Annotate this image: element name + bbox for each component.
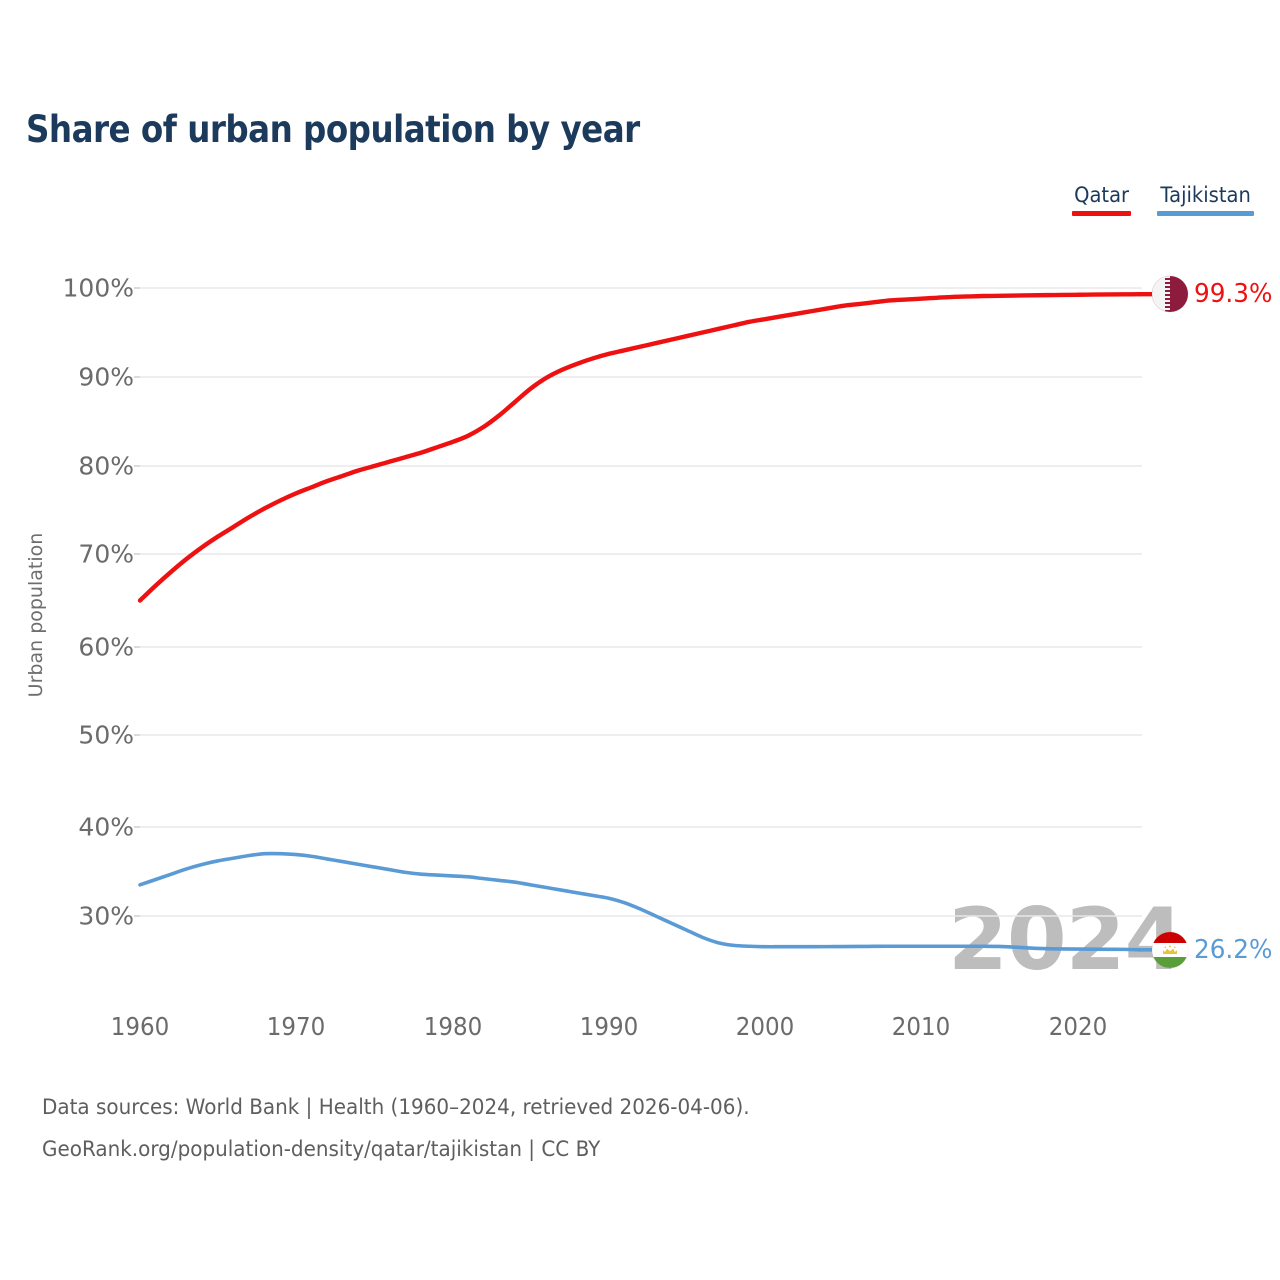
end-marker-tajikistan[interactable]: 26.2% [1152, 932, 1277, 968]
y-tick-label: 40% [40, 813, 134, 842]
chart-page: Share of urban population by year Qatar … [0, 0, 1280, 1280]
x-tick-label: 1980 [423, 1012, 482, 1041]
y-tick-label: 60% [40, 633, 134, 662]
qatar-flag-icon [1152, 276, 1188, 312]
y-tick-label: 90% [40, 363, 134, 392]
y-tick-label: 50% [40, 721, 134, 750]
y-tick-label: 100% [40, 274, 134, 303]
footer-line-2: GeoRank.org/population-density/qatar/taj… [42, 1128, 750, 1170]
end-marker-qatar[interactable]: 99.3% [1152, 276, 1277, 312]
series-line-tajikistan [140, 854, 1140, 950]
end-value-qatar: 99.3% [1194, 279, 1272, 309]
x-tick-label: 2000 [736, 1012, 795, 1041]
y-tick-label: 80% [40, 452, 134, 481]
x-tick-label: 1970 [267, 1012, 326, 1041]
x-tick-label: 1990 [579, 1012, 638, 1041]
x-tick-label: 2020 [1048, 1012, 1107, 1041]
x-tick-label: 1960 [111, 1012, 170, 1041]
footer: Data sources: World Bank | Health (1960–… [42, 1086, 750, 1170]
y-tick-label: 30% [40, 902, 134, 931]
x-tick-label: 2010 [892, 1012, 951, 1041]
y-tick-label: 70% [40, 540, 134, 569]
end-value-tajikistan: 26.2% [1194, 935, 1272, 965]
tj-crown-emblem [1161, 945, 1179, 955]
footer-line-1: Data sources: World Bank | Health (1960–… [42, 1086, 750, 1128]
tajikistan-flag-icon [1152, 932, 1188, 968]
